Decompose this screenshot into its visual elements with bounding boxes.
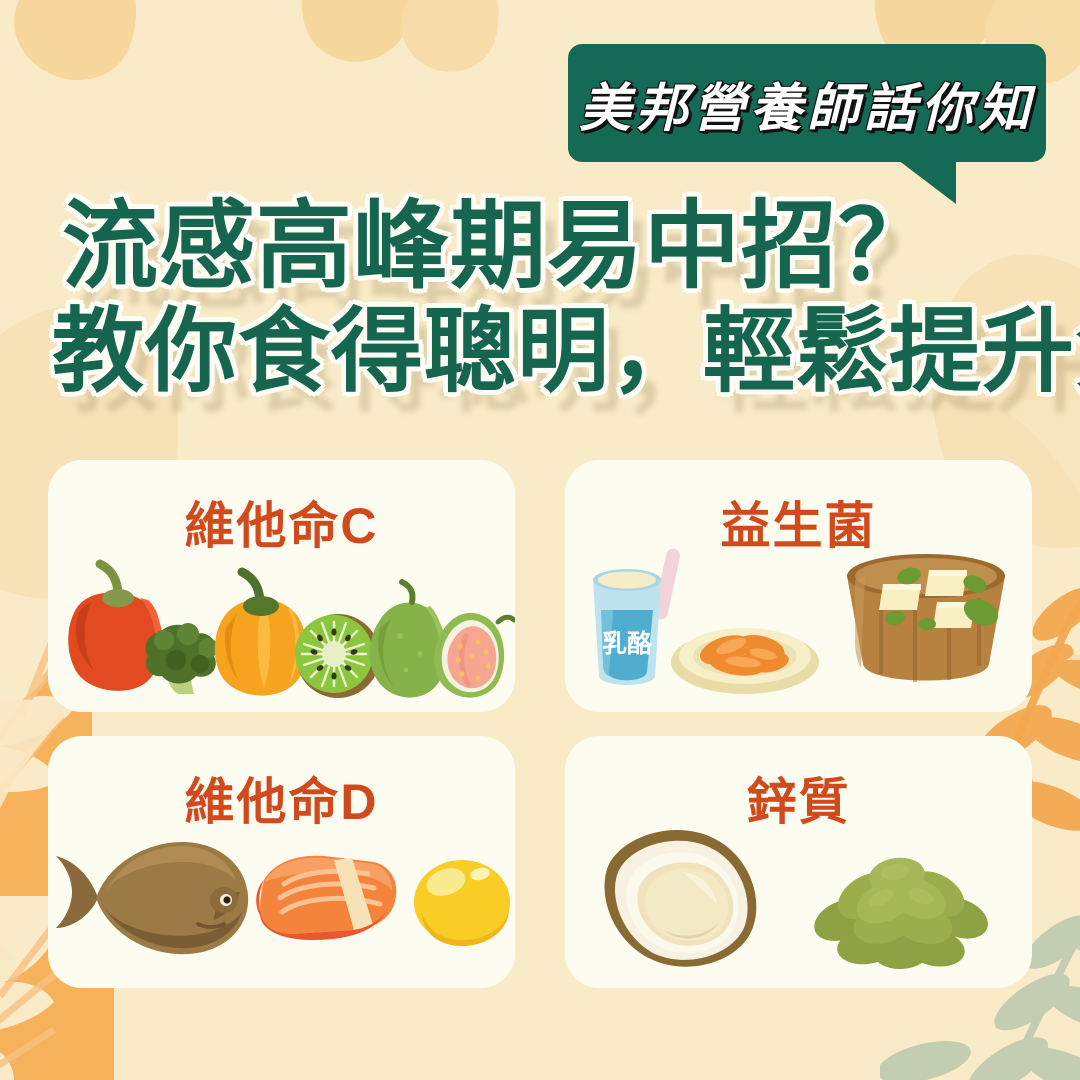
guava-half-icon [434, 613, 514, 698]
kiwi-half-icon [295, 614, 380, 698]
card-art-zinc [565, 812, 1032, 982]
nutrient-card-grid: 維他命C [48, 460, 1032, 975]
headline-block: 流感高峰期易中招？ 教你食得聰明，輕鬆提升免疫力 [0, 196, 1080, 401]
kimchi-dish-icon [671, 628, 819, 694]
leaf-blob-top-mid-a [286, 0, 421, 73]
card-art-probiotics: 乳酪 [565, 536, 1032, 706]
yogurt-cup-icon: 乳酪 [593, 547, 681, 685]
speech-bubble: 美邦營養師話你知 [568, 44, 1046, 162]
oyster-icon [605, 830, 757, 967]
guava-whole-icon [370, 582, 447, 697]
fern-branch-sage-corner [880, 1010, 1080, 1080]
speech-bubble-text: 美邦營養師話你知 [579, 66, 1035, 141]
orange-bell-pepper-icon [215, 572, 307, 696]
broccoli-icon [146, 623, 218, 694]
flounder-fish-icon [56, 842, 248, 954]
leaf-blob-top-mid-b [390, 0, 513, 83]
nutrient-card-vitamin-c[interactable]: 維他命C [48, 460, 515, 712]
nutrient-card-vitamin-d[interactable]: 維他命D [48, 736, 515, 988]
leaf-blob-top-left [0, 0, 158, 98]
egg-yolk-icon [414, 860, 510, 946]
speech-bubble-tail [880, 160, 956, 204]
headline-line-2: 教你食得聰明，輕鬆提升免疫力 [0, 304, 1080, 402]
nutrient-card-probiotics[interactable]: 益生菌 乳酪 [565, 460, 1032, 712]
poster-canvas: 美邦營養師話你知 流感高峰期易中招？ 教你食得聰明，輕鬆提升免疫力 維他命C [0, 0, 1080, 1080]
card-art-vitamin-c [48, 536, 515, 706]
headline-line-1: 流感高峰期易中招？ [0, 196, 1080, 298]
salmon-fillet-icon [256, 856, 396, 940]
yogurt-label-text: 乳酪 [602, 629, 653, 658]
miso-soup-bowl-icon [847, 554, 1005, 682]
nutrient-card-zinc[interactable]: 鋅質 [565, 736, 1032, 988]
card-art-vitamin-d [48, 812, 515, 982]
red-bell-pepper-icon [68, 564, 162, 691]
pumpkin-seeds-icon [808, 854, 994, 971]
